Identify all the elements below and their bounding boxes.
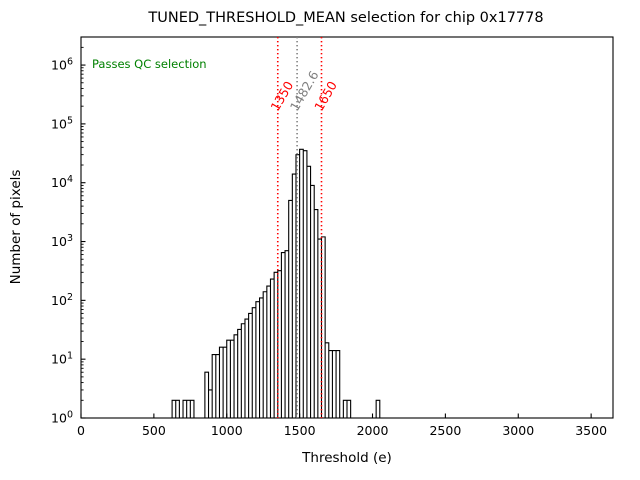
x-tick-label: 2000 (357, 423, 389, 438)
x-tick-label: 3500 (575, 423, 607, 438)
qc-annotation: Passes QC selection (92, 57, 207, 71)
x-tick-label: 0 (77, 423, 85, 438)
figure-canvas: TUNED_THRESHOLD_MEAN selection for chip … (0, 0, 640, 480)
x-tick-label: 1000 (211, 423, 243, 438)
y-axis-label: Number of pixels (8, 170, 24, 285)
page-title: TUNED_THRESHOLD_MEAN selection for chip … (147, 10, 543, 26)
histogram-plot: TUNED_THRESHOLD_MEAN selection for chip … (0, 0, 640, 480)
x-tick-label: 3000 (502, 423, 534, 438)
x-tick-label: 500 (142, 423, 166, 438)
x-axis-label: Threshold (e) (301, 450, 392, 466)
figure-background (0, 0, 640, 480)
x-tick-label: 2500 (429, 423, 461, 438)
x-tick-label: 1500 (284, 423, 316, 438)
